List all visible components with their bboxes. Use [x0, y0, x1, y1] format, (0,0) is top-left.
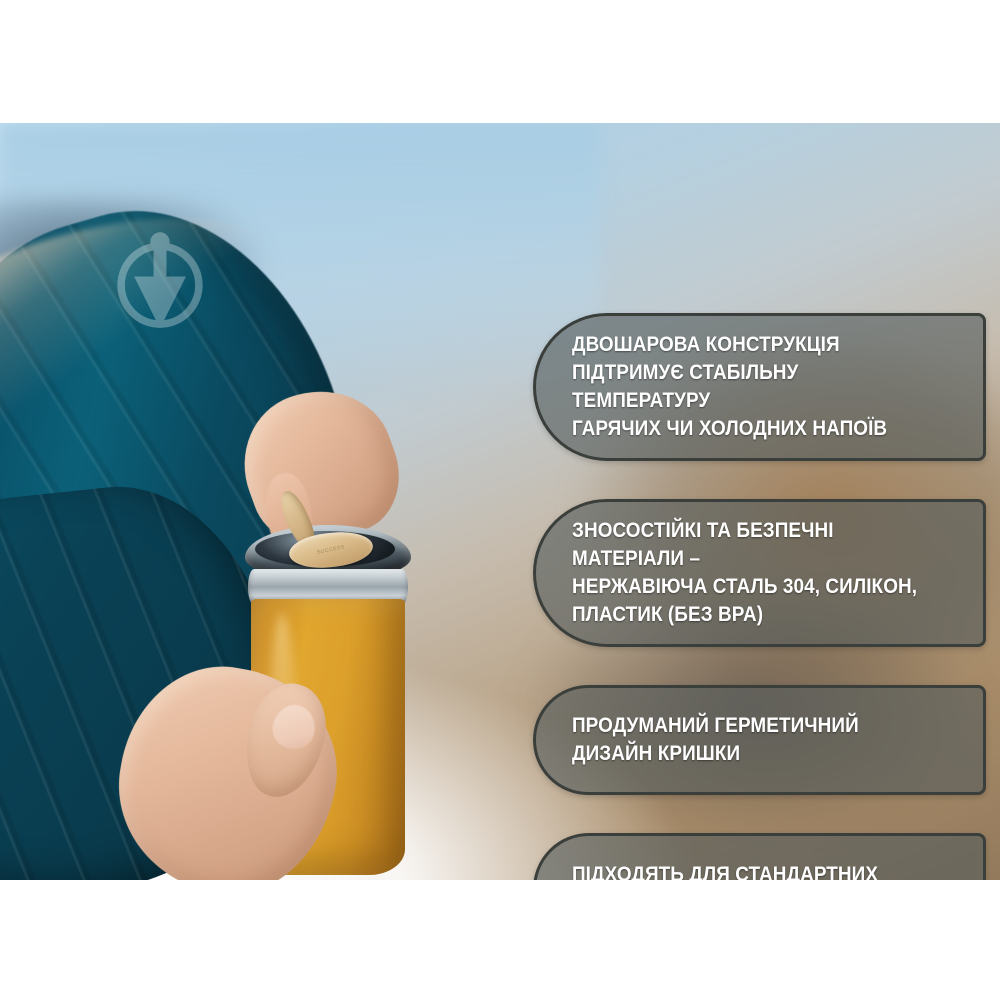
letterbox-top — [0, 0, 1000, 123]
infographic-canvas: SUCCESS ДВОШАРОВА КОНСТРУКЦІЯ ПІДТРИМУЄ … — [0, 0, 1000, 1000]
feature-callout-text: ПІДХОДЯТЬ ДЛЯ СТАНДАРТНИХ ПІДСКЛЯННИКІВ … — [572, 861, 878, 880]
product-photo: SUCCESS ДВОШАРОВА КОНСТРУКЦІЯ ПІДТРИМУЄ … — [0, 123, 1000, 880]
feature-callout-durable-safe-materials[interactable]: ЗНОСОСТІЙКІ ТА БЕЗПЕЧНІ МАТЕРІАЛИ – НЕРЖ… — [533, 499, 986, 647]
feature-callout-text: ПРОДУМАНИЙ ГЕРМЕТИЧНИЙ ДИЗАЙН КРИШКИ — [572, 712, 859, 768]
feature-callout-list: ДВОШАРОВА КОНСТРУКЦІЯ ПІДТРИМУЄ СТАБІЛЬН… — [0, 123, 1000, 880]
feature-callout-dual-wall-construction[interactable]: ДВОШАРОВА КОНСТРУКЦІЯ ПІДТРИМУЄ СТАБІЛЬН… — [533, 313, 986, 461]
feature-callout-text: ДВОШАРОВА КОНСТРУКЦІЯ ПІДТРИМУЄ СТАБІЛЬН… — [572, 331, 934, 443]
feature-callout-sealed-lid-design[interactable]: ПРОДУМАНИЙ ГЕРМЕТИЧНИЙ ДИЗАЙН КРИШКИ — [533, 685, 986, 795]
feature-callout-fits-car-cup-holders[interactable]: ПІДХОДЯТЬ ДЛЯ СТАНДАРТНИХ ПІДСКЛЯННИКІВ … — [533, 833, 986, 880]
feature-callout-text: ЗНОСОСТІЙКІ ТА БЕЗПЕЧНІ МАТЕРІАЛИ – НЕРЖ… — [572, 517, 934, 629]
letterbox-bottom — [0, 880, 1000, 1000]
